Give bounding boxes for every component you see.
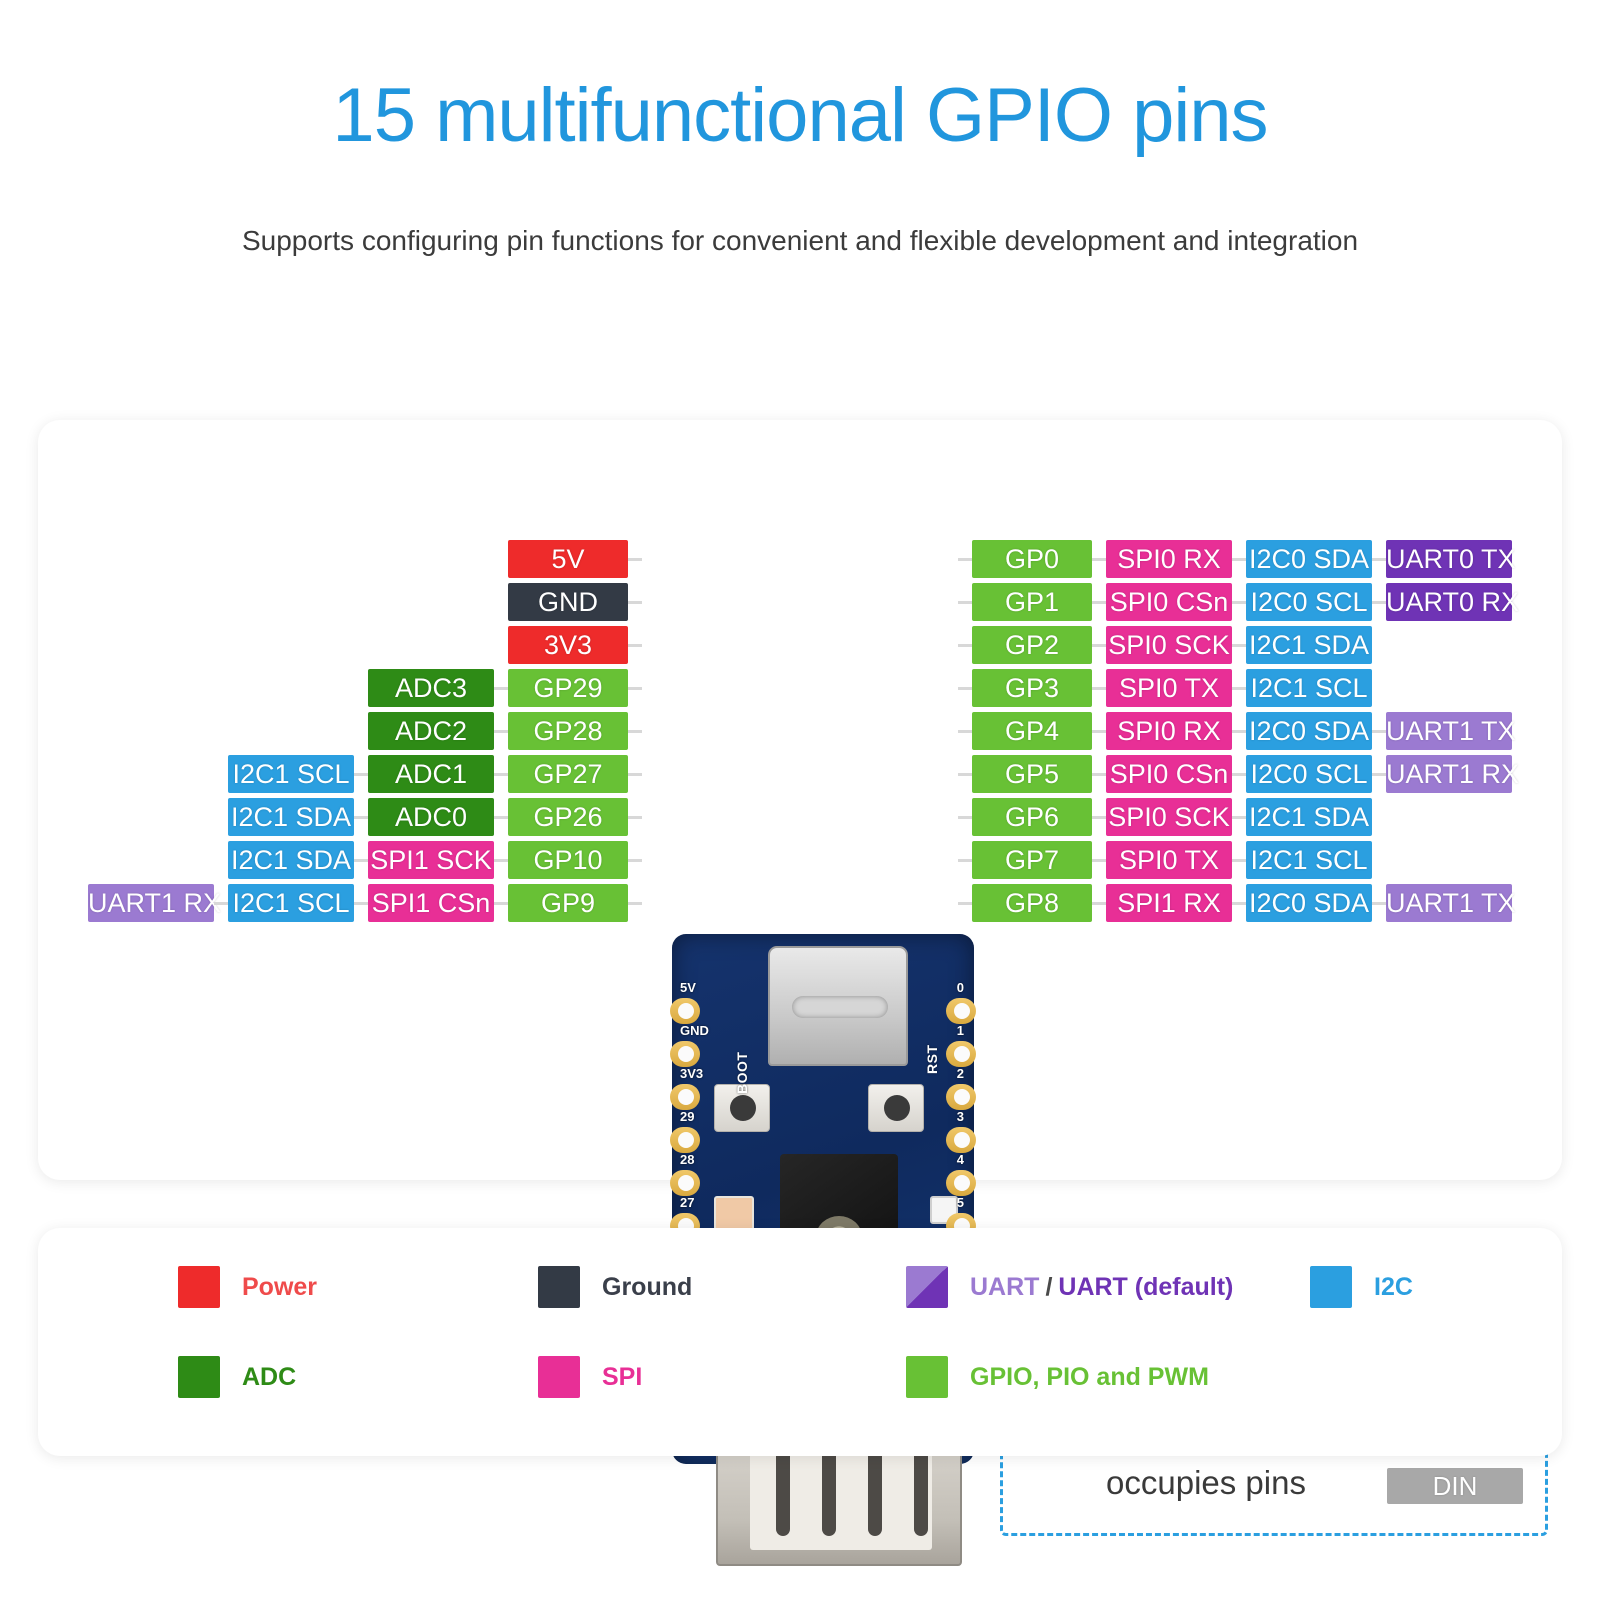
note-chip-din: DIN	[1387, 1468, 1523, 1504]
pin-chip-spi0-csn: SPI0 CSn	[1106, 755, 1232, 793]
legend-item-ground: Ground	[538, 1266, 692, 1308]
pin-connector-line	[958, 601, 972, 604]
legend-item-spi: SPI	[538, 1356, 642, 1398]
pin-connector-line	[958, 859, 972, 862]
spi-swatch-icon	[538, 1356, 580, 1398]
adc-swatch-icon	[178, 1356, 220, 1398]
pin-connector-line	[958, 558, 972, 561]
rst-silkscreen-label: RST	[924, 1045, 940, 1075]
pin-row-right-5: GP5SPI0 CSnI2C0 SCLUART1 RX	[958, 755, 1512, 793]
pin-chip-i2c1-scl: I2C1 SCL	[1246, 669, 1372, 707]
pin-chip-spi0-csn: SPI0 CSn	[1106, 583, 1232, 621]
pin-row-right-3: GP3SPI0 TXI2C1 SCL	[958, 669, 1372, 707]
pad-right-4	[946, 1170, 976, 1196]
pin-chip-gp8: GP8	[972, 884, 1092, 922]
pin-chip-i2c0-sda: I2C0 SDA	[1246, 540, 1372, 578]
pin-connector-line	[1232, 773, 1246, 776]
legend-label-ground: Ground	[602, 1273, 692, 1302]
pin-connector-line	[958, 730, 972, 733]
pad-number-left-29: 29	[680, 1109, 694, 1124]
pin-chip-spi0-tx: SPI0 TX	[1106, 669, 1232, 707]
pin-chip-uart1-tx: UART1 TX	[1386, 712, 1512, 750]
pin-chip-i2c1-sda: I2C1 SDA	[1246, 626, 1372, 664]
pin-chip-i2c0-scl: I2C0 SCL	[1246, 583, 1372, 621]
pin-connector-line	[1232, 644, 1246, 647]
pin-chip-i2c0-scl: I2C0 SCL	[1246, 755, 1372, 793]
legend-label-adc: ADC	[242, 1363, 296, 1392]
pinout-infographic: 15 multifunctional GPIO pins Supports co…	[0, 0, 1600, 1600]
ws2812-note-line2: occupies pins	[1025, 1462, 1387, 1504]
pin-connector-line	[1372, 902, 1386, 905]
pin-connector-line	[1232, 816, 1246, 819]
pin-chip-uart0-rx: UART0 RX	[1386, 583, 1512, 621]
pad-number-right-3: 3	[957, 1109, 964, 1124]
page-subtitle: Supports configuring pin functions for c…	[0, 225, 1600, 257]
page-title: 15 multifunctional GPIO pins	[0, 72, 1600, 159]
pin-connector-line	[1092, 644, 1106, 647]
legend-label-i2c: I2C	[1374, 1273, 1413, 1302]
pin-chip-gp5: GP5	[972, 755, 1092, 793]
pin-chip-spi0-sck: SPI0 SCK	[1106, 798, 1232, 836]
pin-row-right-2: GP2SPI0 SCKI2C1 SDA	[958, 626, 1372, 664]
pad-number-right-5: 5	[957, 1195, 964, 1210]
pin-chip-gp0: GP0	[972, 540, 1092, 578]
legend-label-power: Power	[242, 1273, 317, 1302]
pin-chip-gp3: GP3	[972, 669, 1092, 707]
reset-button[interactable]	[868, 1084, 924, 1132]
uart-swatch-icon	[906, 1266, 948, 1308]
legend: Power Ground UART/UART (default) I2C ADC…	[38, 1228, 1562, 1456]
pin-chip-spi0-sck: SPI0 SCK	[1106, 626, 1232, 664]
pad-left-28	[670, 1170, 700, 1196]
pin-row-right-7: GP7SPI0 TXI2C1 SCL	[958, 841, 1372, 879]
pin-chip-uart0-tx: UART0 TX	[1386, 540, 1512, 578]
pad-number-right-0: 0	[957, 980, 964, 995]
pin-connector-line	[958, 816, 972, 819]
pad-left-3V3	[670, 1084, 700, 1110]
legend-item-gpio: GPIO, PIO and PWM	[906, 1356, 1209, 1398]
gpio-swatch-icon	[906, 1356, 948, 1398]
power-swatch-icon	[178, 1266, 220, 1308]
pin-connector-line	[1092, 687, 1106, 690]
pin-chip-gp6: GP6	[972, 798, 1092, 836]
pad-number-left-5V: 5V	[680, 980, 696, 995]
pad-number-left-28: 28	[680, 1152, 694, 1167]
usb-a-slot	[776, 1452, 790, 1536]
pad-number-right-4: 4	[957, 1152, 964, 1167]
pad-number-right-2: 2	[957, 1066, 964, 1081]
pin-connector-line	[1232, 558, 1246, 561]
pad-right-0	[946, 998, 976, 1024]
pin-chip-i2c0-sda: I2C0 SDA	[1246, 884, 1372, 922]
pin-connector-line	[1092, 773, 1106, 776]
pin-row-right-4: GP4SPI0 RXI2C0 SDAUART1 TX	[958, 712, 1512, 750]
legend-item-adc: ADC	[178, 1356, 296, 1398]
pin-row-right-0: GP0SPI0 RXI2C0 SDAUART0 TX	[958, 540, 1512, 578]
pin-chip-gp7: GP7	[972, 841, 1092, 879]
pad-left-5V	[670, 998, 700, 1024]
diagram-card: 5VGND3V3ADC3GP29ADC2GP28I2C1 SCLADC1GP27…	[38, 420, 1562, 1180]
pad-right-3	[946, 1127, 976, 1153]
pin-connector-line	[1372, 730, 1386, 733]
pin-connector-line	[1232, 902, 1246, 905]
pin-connector-line	[958, 687, 972, 690]
pin-chip-spi0-rx: SPI0 RX	[1106, 712, 1232, 750]
pin-connector-line	[1372, 601, 1386, 604]
pin-connector-line	[958, 773, 972, 776]
pin-chip-spi0-tx: SPI0 TX	[1106, 841, 1232, 879]
pin-connector-line	[1372, 558, 1386, 561]
pin-row-right-6: GP6SPI0 SCKI2C1 SDA	[958, 798, 1372, 836]
i2c-swatch-icon	[1310, 1266, 1352, 1308]
pin-row-right-8: GP8SPI1 RXI2C0 SDAUART1 TX	[958, 884, 1512, 922]
pin-connector-line	[958, 644, 972, 647]
pin-chip-i2c0-sda: I2C0 SDA	[1246, 712, 1372, 750]
legend-label-spi: SPI	[602, 1363, 642, 1392]
pin-chip-i2c1-scl: I2C1 SCL	[1246, 841, 1372, 879]
pin-chip-uart1-rx: UART1 RX	[1386, 755, 1512, 793]
pad-number-left-GND: GND	[680, 1023, 709, 1038]
pin-connector-line	[1232, 859, 1246, 862]
pin-connector-line	[1232, 687, 1246, 690]
pin-connector-line	[1092, 816, 1106, 819]
legend-item-i2c: I2C	[1310, 1266, 1413, 1308]
pin-chip-uart1-tx: UART1 TX	[1386, 884, 1512, 922]
pin-row-right-1: GP1SPI0 CSnI2C0 SCLUART0 RX	[958, 583, 1512, 621]
pin-chip-gp4: GP4	[972, 712, 1092, 750]
usb-a-slot	[822, 1452, 836, 1536]
pad-right-2	[946, 1084, 976, 1110]
usb-c-connector	[768, 946, 908, 1066]
pin-connector-line	[1092, 558, 1106, 561]
legend-card: Power Ground UART/UART (default) I2C ADC…	[38, 1228, 1562, 1456]
legend-label-gpio: GPIO, PIO and PWM	[970, 1363, 1209, 1392]
pad-number-left-3V3: 3V3	[680, 1066, 703, 1081]
pin-connector-line	[1372, 773, 1386, 776]
pin-connector-line	[1232, 730, 1246, 733]
pin-chip-spi1-rx: SPI1 RX	[1106, 884, 1232, 922]
usb-a-slot	[914, 1452, 928, 1536]
pin-connector-line	[1092, 730, 1106, 733]
pad-right-1	[946, 1041, 976, 1067]
legend-label-uart: UART	[970, 1273, 1039, 1301]
pad-left-GND	[670, 1041, 700, 1067]
pin-connector-line	[1092, 601, 1106, 604]
pin-connector-line	[1092, 902, 1106, 905]
boot-silkscreen-label: BOOT	[734, 1052, 750, 1094]
pin-chip-gp2: GP2	[972, 626, 1092, 664]
legend-label-separator: /	[1039, 1273, 1058, 1301]
pin-chip-gp1: GP1	[972, 583, 1092, 621]
legend-label-uart-default: UART (default)	[1058, 1273, 1233, 1301]
pad-number-right-1: 1	[957, 1023, 964, 1038]
pad-left-29	[670, 1127, 700, 1153]
pad-number-left-27: 27	[680, 1195, 694, 1210]
pin-chip-i2c1-sda: I2C1 SDA	[1246, 798, 1372, 836]
pin-chip-spi0-rx: SPI0 RX	[1106, 540, 1232, 578]
ground-swatch-icon	[538, 1266, 580, 1308]
usb-a-slot	[868, 1452, 882, 1536]
legend-item-uart: UART/UART (default)	[906, 1266, 1233, 1308]
pin-connector-line	[1092, 859, 1106, 862]
legend-item-power: Power	[178, 1266, 317, 1308]
pin-connector-line	[1232, 601, 1246, 604]
